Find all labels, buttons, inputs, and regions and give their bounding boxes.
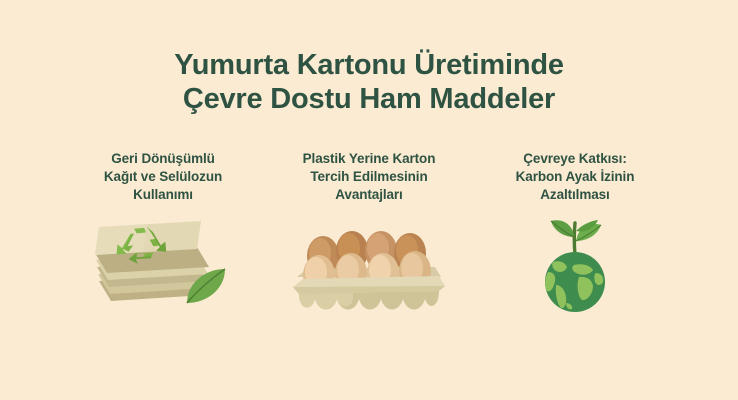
- illustration-green-globe: [490, 212, 660, 318]
- page-title-line-2: Çevre Dostu Ham Maddeler: [0, 82, 738, 116]
- recycled-paper-stack-icon: [87, 215, 239, 315]
- green-globe-sprout-icon: [520, 215, 630, 315]
- illustration-egg-carton: [284, 222, 454, 328]
- column-heading-carbon-footprint: Çevreye Katkısı: Karbon Ayak İzinin Azal…: [483, 150, 668, 204]
- column-heading-line-3: Azaltılması: [540, 187, 609, 202]
- column-heading-line-1: Plastik Yerine Karton: [303, 151, 436, 166]
- page-title: Yumurta Kartonu Üretiminde Çevre Dostu H…: [0, 48, 738, 116]
- column-heading-egg-carton: Plastik Yerine Karton Tercih Edilmesinin…: [277, 150, 462, 204]
- illustration-recycled-paper: [78, 212, 248, 318]
- infographic-canvas: Yumurta Kartonu Üretiminde Çevre Dostu H…: [0, 0, 738, 400]
- column-heading-line-2: Kağıt ve Selülozun: [104, 169, 222, 184]
- column-heading-line-2: Karbon Ayak İzinin: [516, 169, 635, 184]
- column-heading-line-3: Avantajları: [335, 187, 402, 202]
- column-heading-line-3: Kullanımı: [133, 187, 193, 202]
- column-heading-recycled-paper: Geri Dönüşümlü Kağıt ve Selülozun Kullan…: [71, 150, 256, 204]
- feature-column-egg-carton: Plastik Yerine Karton Tercih Edilmesinin…: [266, 150, 472, 328]
- sprout-leaf-left: [551, 220, 574, 237]
- feature-columns: Geri Dönüşümlü Kağıt ve Selülozun Kullan…: [0, 150, 738, 330]
- column-heading-line-1: Geri Dönüşümlü: [111, 151, 215, 166]
- column-heading-line-2: Tercih Edilmesinin: [310, 169, 427, 184]
- feature-column-carbon-footprint: Çevreye Katkısı: Karbon Ayak İzinin Azal…: [472, 150, 678, 318]
- feature-column-recycled-paper: Geri Dönüşümlü Kağıt ve Selülozun Kullan…: [60, 150, 266, 318]
- column-heading-line-1: Çevreye Katkısı:: [523, 151, 626, 166]
- page-title-line-1: Yumurta Kartonu Üretiminde: [0, 48, 738, 82]
- egg-carton-icon: [289, 229, 449, 321]
